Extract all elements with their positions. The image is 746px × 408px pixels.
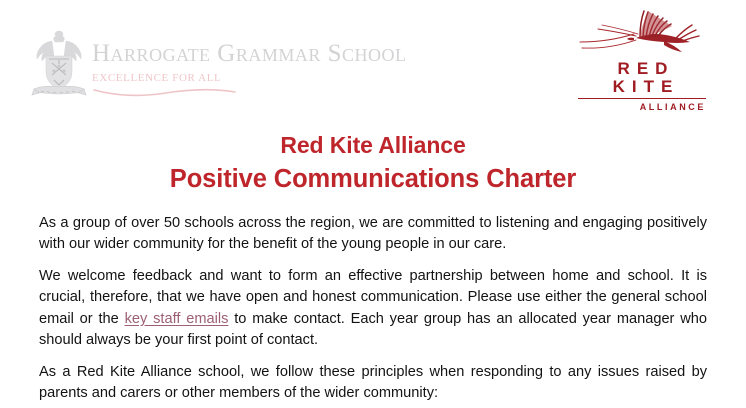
paragraph-feedback: We welcome feedback and want to form an … <box>39 266 707 352</box>
harrogate-grammar-school-crest-icon <box>30 30 88 102</box>
paragraph-principles: As a Red Kite Alliance school, we follow… <box>39 362 707 405</box>
page-title-line-1: Red Kite Alliance <box>0 130 746 162</box>
document-header: Harrogate Grammar School EXCELLENCE FOR … <box>0 0 746 112</box>
page-title: Red Kite Alliance Positive Communication… <box>0 130 746 197</box>
red-kite-wordmark: RED KITE <box>578 60 708 96</box>
key-staff-emails-link[interactable]: key staff emails <box>125 311 229 327</box>
school-wordmark-block: Harrogate Grammar School EXCELLENCE FOR … <box>92 30 407 99</box>
page-title-line-2: Positive Communications Charter <box>0 162 746 197</box>
harrogate-grammar-school-logo: Harrogate Grammar School EXCELLENCE FOR … <box>30 30 407 102</box>
red-kite-alliance-subtitle: ALLIANCE <box>578 102 708 112</box>
school-swoosh-icon <box>92 85 237 99</box>
document-page: Harrogate Grammar School EXCELLENCE FOR … <box>0 0 746 408</box>
document-body: As a group of over 50 schools across the… <box>39 197 707 405</box>
school-name: Harrogate Grammar School <box>92 41 407 66</box>
school-tagline: EXCELLENCE FOR ALL <box>92 72 407 84</box>
red-kite-rule <box>578 98 706 100</box>
red-kite-bird-icon <box>578 8 704 60</box>
paragraph-intro: As a group of over 50 schools across the… <box>39 213 707 256</box>
red-kite-alliance-logo: RED KITE ALLIANCE <box>578 8 708 112</box>
